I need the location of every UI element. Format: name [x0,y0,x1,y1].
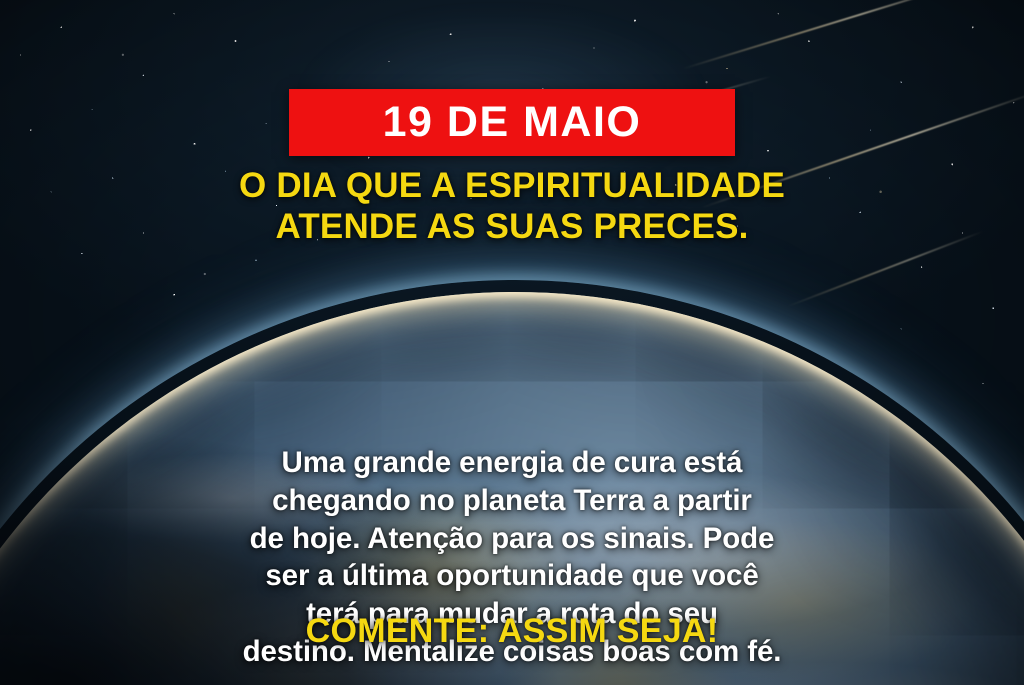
body-line-3: de hoje. Atenção para os sinais. Pode [58,520,966,558]
headline: O DIA QUE A ESPIRITUALIDADE ATENDE AS SU… [0,166,1024,248]
headline-line-2: ATENDE AS SUAS PRECES. [52,207,972,248]
date-banner-label: 19 DE MAIO [383,101,642,144]
body-line-1: Uma grande energia de cura está [58,444,966,482]
date-banner: 19 DE MAIO [289,89,735,156]
poster-canvas: 19 DE MAIO O DIA QUE A ESPIRITUALIDADE A… [0,0,1024,685]
body-line-2: chegando no planeta Terra a partir [58,482,966,520]
poster-content: 19 DE MAIO O DIA QUE A ESPIRITUALIDADE A… [0,0,1024,685]
call-to-action: COMENTE: ASSIM SEJA! [0,612,1024,651]
call-to-action-label: COMENTE: ASSIM SEJA! [306,612,719,650]
body-line-4: ser a última oportunidade que você [58,557,966,595]
headline-line-1: O DIA QUE A ESPIRITUALIDADE [52,166,972,207]
